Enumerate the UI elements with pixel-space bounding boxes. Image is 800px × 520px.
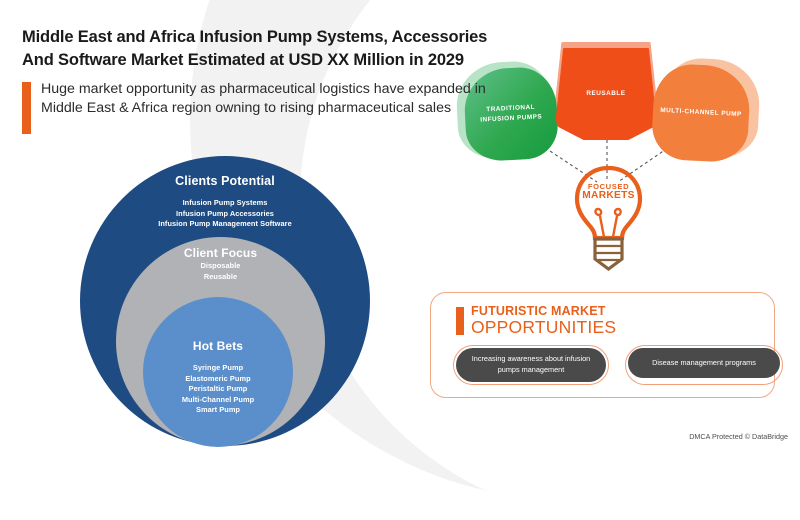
page-title: Middle East and Africa Infusion Pump Sys… [22,26,522,73]
circle-items-hot-bets: Syringe Pump Elastomeric Pump Peristalti… [143,363,293,416]
opportunity-pill-label-0: Increasing awareness about infusion pump… [456,348,606,382]
bulb-filament-right [615,209,621,215]
panel-accent-bar [456,307,464,335]
subtitle-accent-bar [22,82,31,134]
circle-title-client-focus: Client Focus [116,246,325,260]
circle-title-hot-bets: Hot Bets [143,339,293,353]
subtitle-block: Huge market opportunity as pharmaceutica… [22,80,522,134]
bulb-glass [577,168,640,238]
petal-label-multi-channel: MULTI-CHANNEL PUMP [660,106,742,120]
circle-items-client-focus: Disposable Reusable [116,261,325,282]
panel-title-line-2: OPPORTUNITIES [471,319,616,337]
bulb-filament-stem-right [613,216,617,237]
circle-items-clients-potential: Infusion Pump Systems Infusion Pump Acce… [80,198,370,230]
bulb-filament-left [595,209,601,215]
circle-hot-bets: Hot Bets Syringe Pump Elastomeric Pump P… [143,297,293,447]
opportunity-pill-disease-management[interactable]: Disease management programs [625,345,783,385]
petal-label-reusable: REUSABLE [586,89,625,99]
panel-title-line-1: FUTURISTIC MARKET [471,305,616,318]
footer-copyright: DMCA Protected © DataBridge [689,432,788,441]
opportunity-pill-list: Increasing awareness about infusion pump… [453,345,783,385]
opportunity-pill-increasing-awareness[interactable]: Increasing awareness about infusion pump… [453,345,609,385]
panel-heading: FUTURISTIC MARKET OPPORTUNITIES [456,305,616,336]
petal-reusable[interactable]: REUSABLE [555,48,657,140]
futuristic-market-opportunities-panel: FUTURISTIC MARKET OPPORTUNITIES Increasi… [430,292,775,398]
bulb-icon [556,163,661,275]
concentric-circles-diagram: Clients Potential Infusion Pump Systems … [80,156,370,446]
focused-markets-bulb: FOCUSED MARKETS [556,163,661,275]
panel-title-group: FUTURISTIC MARKET OPPORTUNITIES [471,305,616,336]
subtitle-text: Huge market opportunity as pharmaceutica… [41,80,522,118]
bulb-filament-stem-left [600,216,604,237]
header: Middle East and Africa Infusion Pump Sys… [22,26,522,134]
opportunity-pill-label-1: Disease management programs [628,348,780,378]
circle-title-clients-potential: Clients Potential [80,174,370,188]
